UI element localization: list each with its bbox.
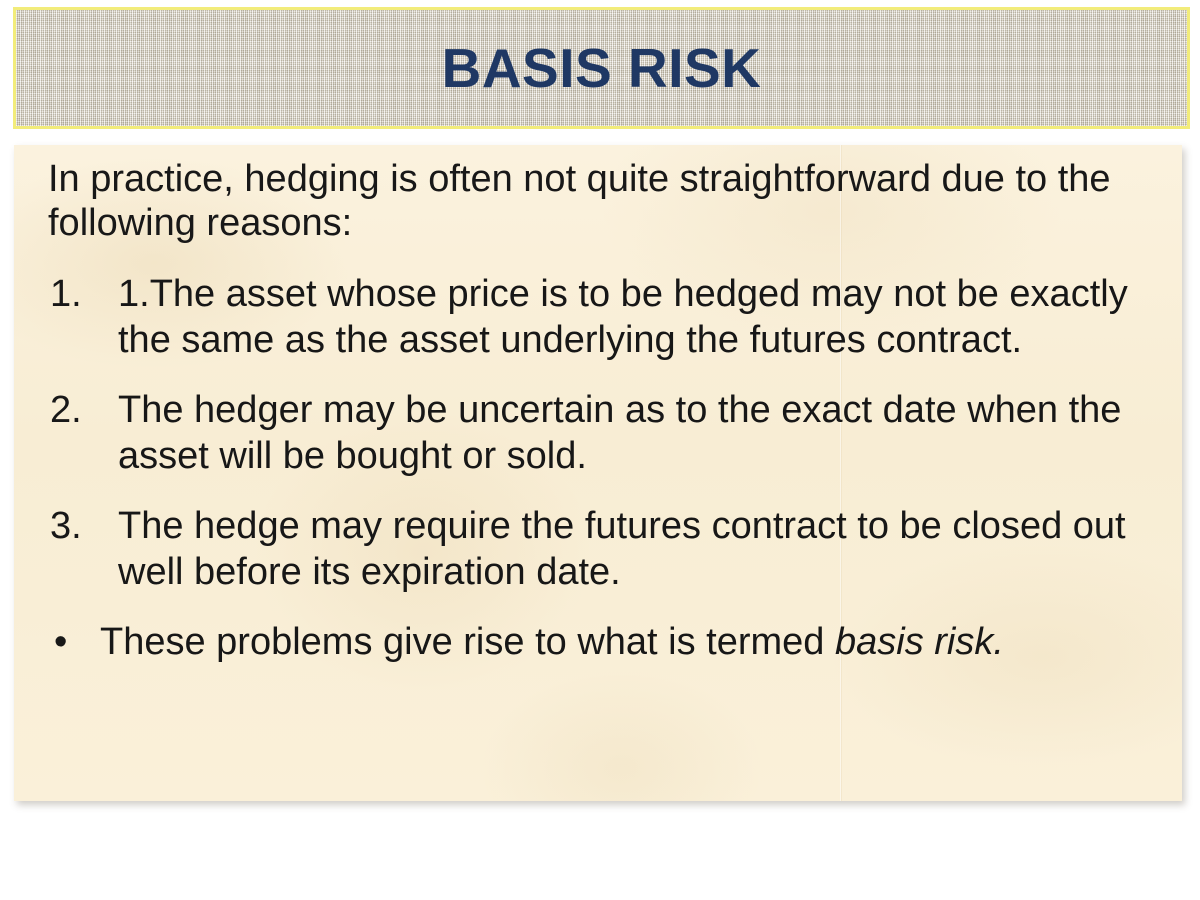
numbered-reasons-list: 1. 1.The asset whose price is to be hedg… — [32, 272, 1164, 596]
slide: BASIS RISK In practice, hedging is often… — [0, 0, 1200, 900]
page-title: BASIS RISK — [442, 41, 762, 96]
list-item: 3. The hedge may require the futures con… — [32, 504, 1164, 596]
list-item-marker: 2. — [50, 388, 104, 434]
slide-body-text: In practice, hedging is often not quite … — [32, 157, 1164, 666]
list-item-text: The hedger may be uncertain as to the ex… — [118, 389, 1121, 477]
intro-paragraph: In practice, hedging is often not quite … — [32, 157, 1164, 246]
list-item-text: The hedge may require the futures contra… — [118, 505, 1126, 593]
slide-title-bar: BASIS RISK — [13, 7, 1190, 129]
list-item-marker: 1. — [50, 272, 104, 318]
list-item-text: 1.The asset whose price is to be hedged … — [118, 273, 1128, 361]
summary-bullet-text: These problems give rise to what is term… — [100, 621, 835, 663]
bullet-marker: • — [54, 620, 67, 666]
list-item: 2. The hedger may be uncertain as to the… — [32, 388, 1164, 480]
basis-risk-term: basis risk. — [835, 621, 1004, 663]
summary-bullet-item: • These problems give rise to what is te… — [32, 620, 1164, 666]
list-item-marker: 3. — [50, 504, 104, 550]
slide-content-panel: In practice, hedging is often not quite … — [14, 145, 1182, 801]
list-item: 1. 1.The asset whose price is to be hedg… — [32, 272, 1164, 364]
